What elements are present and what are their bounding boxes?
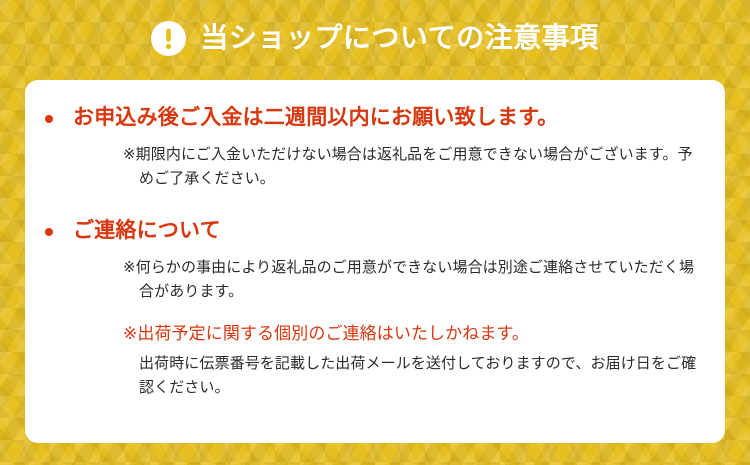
- note-text: ※期限内にご入金いただけない場合は返礼品をご用意できない場合がございます。予めご…: [123, 143, 701, 192]
- bullet-heading-text: お申込み後ご入金は二週間以内にお願い致します。: [73, 102, 559, 134]
- notice-item: お申込み後ご入金は二週間以内にお願い致します。 ※期限内にご入金いただけない場合…: [45, 102, 701, 191]
- note-text: 出荷時に伝票番号を記載した出荷メールを送付しておりますので、お届け日をご確認くだ…: [123, 352, 701, 401]
- bullet-heading: お申込み後ご入金は二週間以内にお願い致します。: [45, 102, 701, 134]
- note-text: ※何らかの事由により返礼品のご用意ができない場合は別途ご連絡させていただく場合が…: [123, 256, 701, 305]
- bullet-heading-text: ご連絡について: [73, 215, 221, 247]
- note-text-highlighted: ※出荷予定に関する個別のご連絡はいたしかねます。: [123, 320, 701, 348]
- bullet-dot-icon: [45, 115, 53, 123]
- bullet-dot-icon: [45, 228, 53, 236]
- page-title: 当ショップについての注意事項: [200, 24, 598, 52]
- bullet-heading: ご連絡について: [45, 215, 701, 247]
- exclamation-circle-icon: [151, 21, 186, 56]
- banner-header: 当ショップについての注意事項: [0, 0, 750, 80]
- notice-item: ご連絡について ※何らかの事由により返礼品のご用意ができない場合は別途ご連絡させ…: [45, 215, 701, 400]
- notice-card: お申込み後ご入金は二週間以内にお願い致します。 ※期限内にご入金いただけない場合…: [25, 80, 725, 443]
- notice-banner: 当ショップについての注意事項 お申込み後ご入金は二週間以内にお願い致します。 ※…: [0, 0, 750, 465]
